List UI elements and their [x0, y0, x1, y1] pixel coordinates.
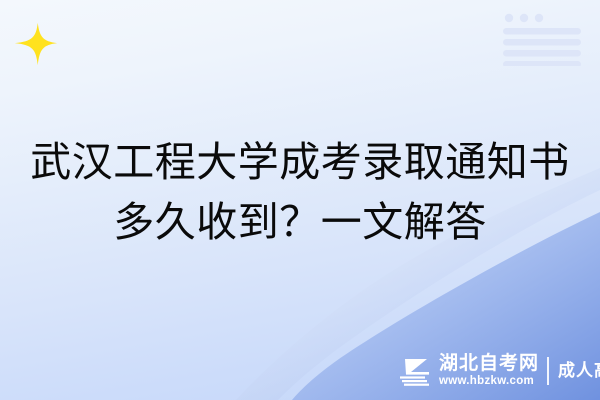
document-lines-icon: [500, 10, 584, 66]
banner-headline: 武汉工程大学成考录取通知书 多久收到？一文解答: [0, 132, 600, 252]
logo-site-name: 湖北自考网: [439, 354, 539, 374]
logo-text-block: 湖北自考网 www.hbzkw.com: [439, 354, 539, 388]
headline-line-2: 多久收到？一文解答: [0, 192, 600, 252]
logo-tagline: 成人高考: [558, 361, 600, 381]
headline-line-1: 武汉工程大学成考录取通知书: [0, 132, 600, 192]
hbzkw-z-mark-icon: [398, 356, 432, 386]
sparkle-star-icon: [14, 22, 58, 66]
logo-site-url: www.hbzkw.com: [439, 374, 539, 388]
site-logo[interactable]: 湖北自考网 www.hbzkw.com 成人高考: [398, 352, 590, 390]
promo-banner: 武汉工程大学成考录取通知书 多久收到？一文解答 湖北自考网 www.hbzkw.…: [0, 0, 600, 400]
logo-divider: [547, 357, 549, 385]
